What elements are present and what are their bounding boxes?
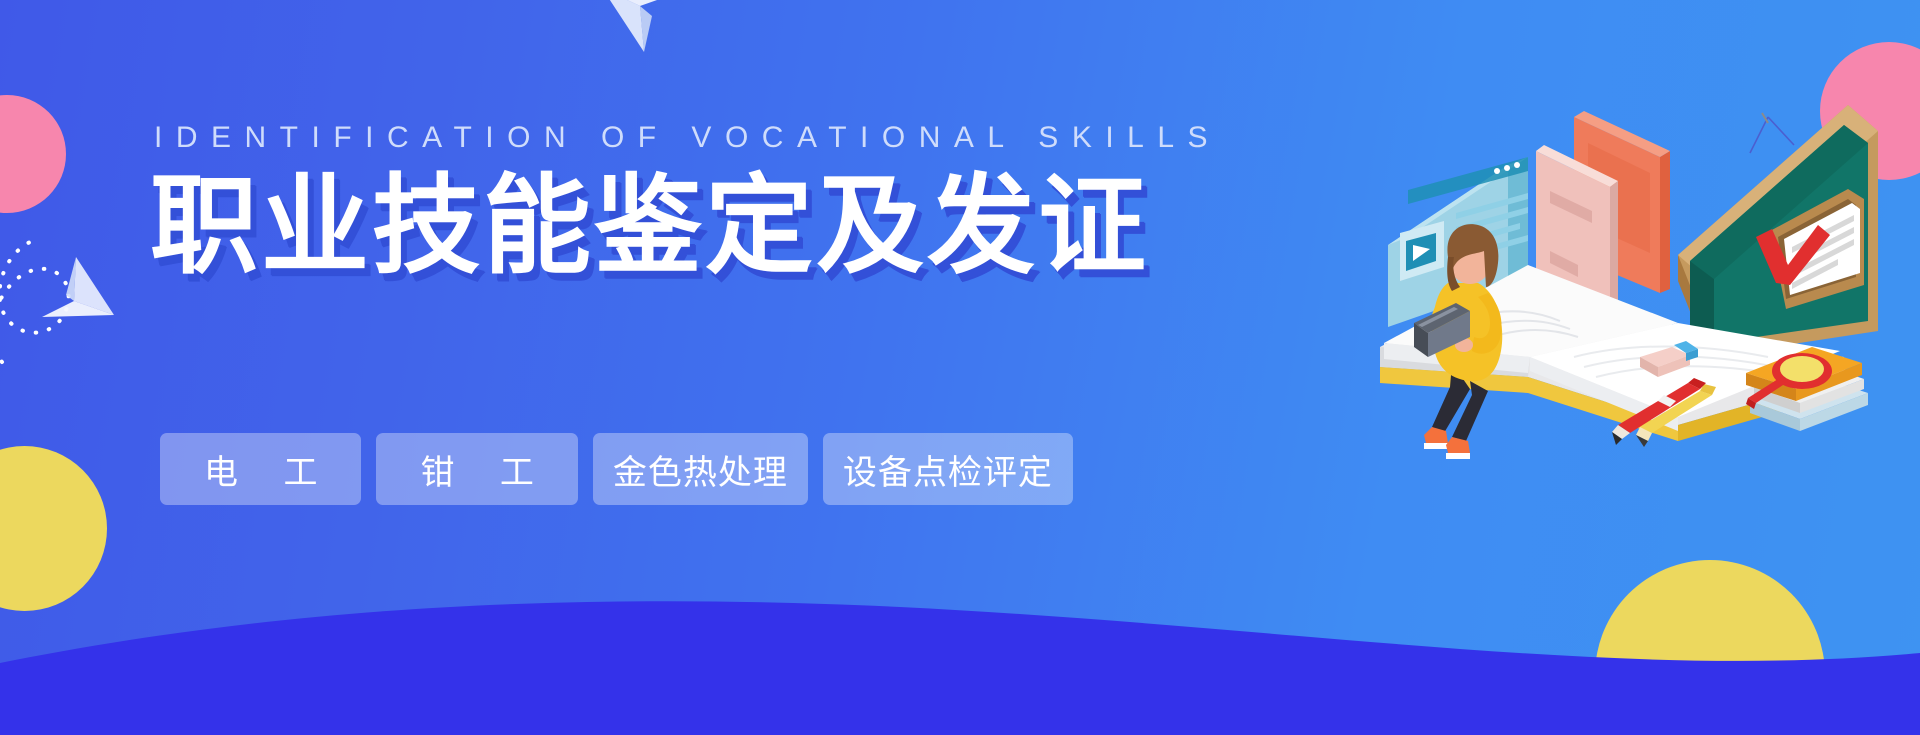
illustration-blackboard (1678, 105, 1878, 357)
tag-electrician-label: 电 工 (186, 445, 335, 494)
tag-fitter-label: 钳 工 (402, 445, 551, 494)
decor-circle-yellow-left (0, 446, 107, 611)
decor-paper-plane-left (36, 255, 116, 325)
tag-equipment-inspection[interactable]: 设备点检评定 (823, 433, 1073, 505)
banner-eyebrow: IDENTIFICATION OF VOCATIONAL SKILLS (150, 120, 1130, 156)
decor-circle-pink-left (0, 95, 66, 213)
tag-heat-treatment-label: 金色热处理 (613, 445, 788, 494)
tag-equipment-inspection-label: 设备点检评定 (843, 445, 1053, 494)
tag-button-group: 电 工 钳 工 金色热处理 设备点检评定 (160, 433, 1073, 505)
hero-illustration (1378, 95, 1898, 495)
banner-headline: 职业技能鉴定及发证 (150, 166, 1130, 287)
decor-dotted-loop (0, 180, 114, 370)
decor-wave-bottom (0, 545, 1920, 735)
decor-circle-yellow-right (1595, 560, 1825, 735)
hero-banner: IDENTIFICATION OF VOCATIONAL SKILLS 职业技能… (0, 0, 1920, 735)
tag-fitter[interactable]: 钳 工 (376, 433, 577, 505)
hero-text-block: IDENTIFICATION OF VOCATIONAL SKILLS 职业技能… (150, 120, 1130, 287)
tag-heat-treatment[interactable]: 金色热处理 (593, 433, 808, 505)
tag-electrician[interactable]: 电 工 (160, 433, 361, 505)
decor-paper-plane-top (600, 0, 682, 64)
